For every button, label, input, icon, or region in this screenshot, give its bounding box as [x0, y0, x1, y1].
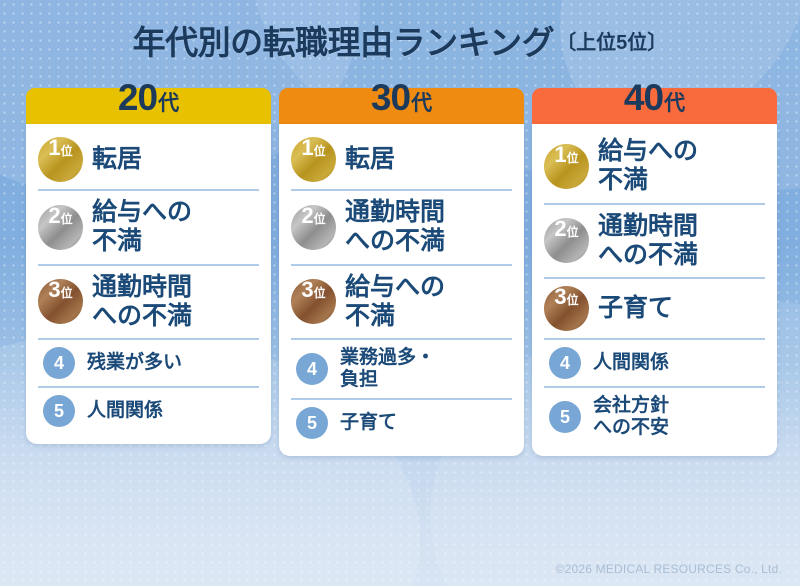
rank-unit: 位: [567, 152, 579, 164]
ranking-item-label: 会社方針 への不安: [593, 395, 669, 439]
rank-unit: 位: [61, 213, 73, 225]
rank-unit: 位: [314, 145, 326, 157]
ranking-item-label: 通勤時間 への不満: [345, 198, 445, 257]
rank-number: 2: [554, 218, 566, 240]
rank-number-badge: 5: [549, 401, 581, 433]
ranking-item-label: 転居: [92, 145, 142, 174]
column-header-label: 20代: [118, 79, 179, 116]
ranking-item-label: 通勤時間 への不満: [92, 273, 192, 332]
column-header-20s: 20代: [26, 88, 271, 124]
ranking-item: 5会社方針 への不安: [544, 386, 765, 446]
rank-number: 2: [48, 205, 60, 227]
rank-unit: 位: [61, 287, 73, 299]
ranking-card: 1位転居2位給与への 不満3位通勤時間 への不満4残業が多い5人間関係: [26, 124, 271, 444]
rank-number: 3: [554, 286, 566, 308]
ranking-item: 3位通勤時間 への不満: [38, 264, 259, 339]
ranking-columns: 20代1位転居2位給与への 不満3位通勤時間 への不満4残業が多い5人間関係30…: [26, 88, 778, 456]
ranking-item-label: 通勤時間 への不満: [598, 212, 698, 271]
age-group-unit: 代: [664, 92, 685, 115]
rank-number-badge: 5: [296, 407, 328, 439]
rank-medal-badge-silver: 2位: [38, 205, 83, 250]
ranking-item: 3位子育て: [544, 277, 765, 338]
ranking-item: 1位転居: [291, 130, 512, 189]
column-header-label: 40代: [624, 79, 685, 116]
ranking-card: 1位転居2位通勤時間 への不満3位給与への 不満4業務過多・ 負担5子育て: [279, 124, 524, 456]
column-header-40s: 40代: [532, 88, 777, 124]
ranking-column-30s: 30代1位転居2位通勤時間 への不満3位給与への 不満4業務過多・ 負担5子育て: [279, 88, 524, 456]
ranking-item: 2位通勤時間 への不満: [544, 203, 765, 278]
rank-number-badge: 5: [43, 395, 75, 427]
rank-unit: 位: [61, 145, 73, 157]
rank-unit: 位: [314, 213, 326, 225]
ranking-column-20s: 20代1位転居2位給与への 不満3位通勤時間 への不満4残業が多い5人間関係: [26, 88, 271, 444]
rank-number: 1: [48, 137, 60, 159]
page-title: 年代別の転職理由ランキング〔上位5位〕: [0, 16, 800, 64]
rank-medal-badge-bronze: 3位: [544, 286, 589, 331]
rank-number: 3: [301, 279, 313, 301]
ranking-item-label: 子育て: [598, 294, 673, 323]
rank-medal-badge-bronze: 3位: [38, 279, 83, 324]
ranking-item-label: 転居: [345, 145, 395, 174]
page-title-main: 年代別の転職理由ランキング: [133, 24, 555, 61]
ranking-item: 4業務過多・ 負担: [291, 338, 512, 398]
rank-unit: 位: [567, 226, 579, 238]
ranking-item: 1位給与への 不満: [544, 130, 765, 203]
rank-number: 1: [554, 144, 566, 166]
ranking-item: 4残業が多い: [38, 338, 259, 386]
ranking-item: 4人間関係: [544, 338, 765, 386]
age-group-unit: 代: [158, 92, 179, 115]
ranking-item: 1位転居: [38, 130, 259, 189]
rank-medal-badge-bronze: 3位: [291, 279, 336, 324]
ranking-column-40s: 40代1位給与への 不満2位通勤時間 への不満3位子育て4人間関係5会社方針 へ…: [532, 88, 777, 456]
ranking-item: 2位給与への 不満: [38, 189, 259, 264]
ranking-item-label: 給与への 不満: [345, 273, 445, 332]
column-header-label: 30代: [371, 79, 432, 116]
ranking-item-label: 業務過多・ 負担: [340, 347, 435, 391]
rank-number-badge: 4: [549, 347, 581, 379]
age-group-number: 30: [371, 77, 410, 118]
rank-medal-badge-gold: 1位: [544, 144, 589, 189]
ranking-item: 5子育て: [291, 398, 512, 446]
age-group-number: 40: [624, 77, 663, 118]
rank-number-badge: 4: [43, 347, 75, 379]
ranking-item-label: 給与への 不満: [598, 137, 698, 196]
ranking-item: 3位給与への 不満: [291, 264, 512, 339]
rank-medal-badge-silver: 2位: [291, 205, 336, 250]
rank-number: 2: [301, 205, 313, 227]
ranking-item-label: 子育て: [340, 412, 397, 434]
ranking-item-label: 給与への 不満: [92, 198, 192, 257]
rank-unit: 位: [567, 294, 579, 306]
ranking-item-label: 人間関係: [87, 400, 163, 422]
rank-medal-badge-gold: 1位: [38, 137, 83, 182]
rank-medal-badge-silver: 2位: [544, 218, 589, 263]
ranking-item-label: 残業が多い: [87, 352, 182, 374]
infographic-root: 年代別の転職理由ランキング〔上位5位〕 20代1位転居2位給与への 不満3位通勤…: [0, 0, 800, 586]
rank-number-badge: 4: [296, 353, 328, 385]
rank-number: 3: [48, 279, 60, 301]
rank-number: 1: [301, 137, 313, 159]
ranking-item-label: 人間関係: [593, 352, 669, 374]
ranking-item: 2位通勤時間 への不満: [291, 189, 512, 264]
age-group-unit: 代: [411, 92, 432, 115]
rank-medal-badge-gold: 1位: [291, 137, 336, 182]
ranking-card: 1位給与への 不満2位通勤時間 への不満3位子育て4人間関係5会社方針 への不安: [532, 124, 777, 456]
ranking-item: 5人間関係: [38, 386, 259, 434]
copyright-notice: ©2026 MEDICAL RESOURCES Co., Ltd.: [556, 562, 782, 576]
rank-unit: 位: [314, 287, 326, 299]
age-group-number: 20: [118, 77, 157, 118]
column-header-30s: 30代: [279, 88, 524, 124]
page-title-bracket: 〔上位5位〕: [556, 32, 667, 54]
